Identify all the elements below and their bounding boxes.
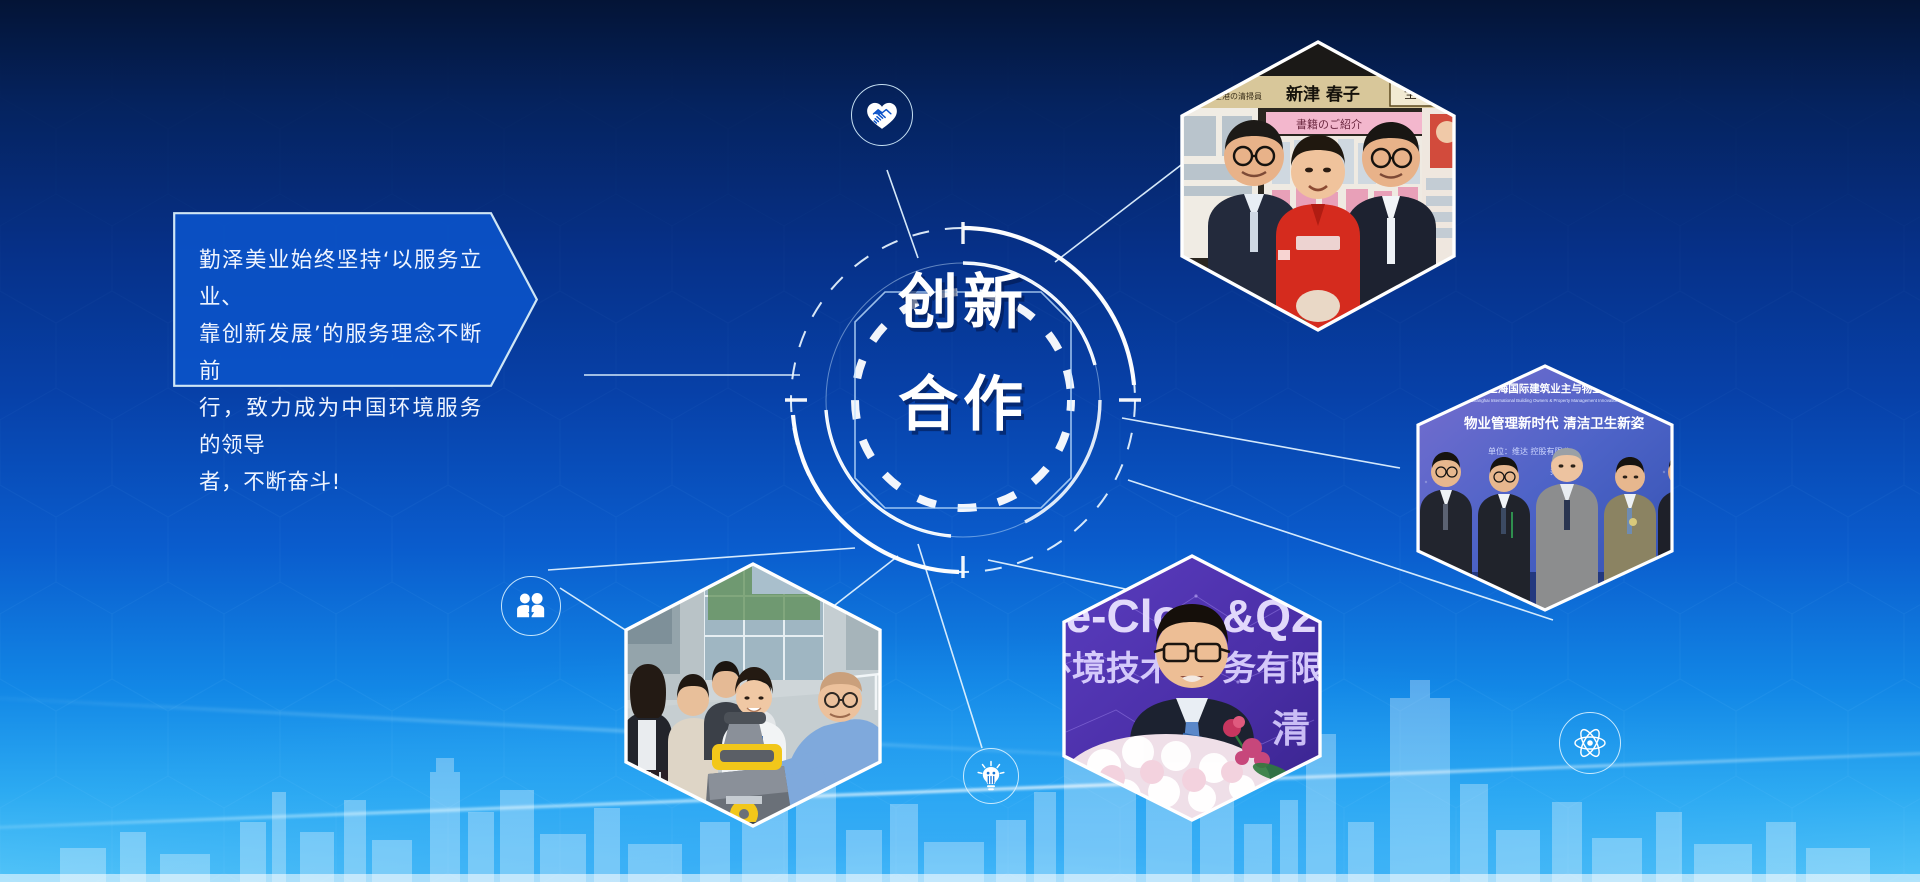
- photo-equipment-demo[interactable]: [608, 560, 898, 830]
- mission-line-2: 靠创新发展’的服务理念不断前: [199, 316, 482, 390]
- badge-people[interactable]: [501, 576, 561, 636]
- svg-text:物业管理新时代 清洁卫生新姿: 物业管理新时代 清洁卫生新姿: [1464, 415, 1645, 432]
- mission-line-1: 勤泽美业始终坚持‘以服务立业、: [199, 242, 482, 316]
- photo-keynote-speaker-art: ce-Clo &Q2 环境技术 务有限 清 服务业联盟系列活: [1046, 552, 1338, 824]
- svg-text:清: 清: [1272, 707, 1310, 751]
- city-skyline-silhouette: [0, 672, 1920, 882]
- core-rings: [763, 200, 1163, 600]
- badge-handshake-heart[interactable]: [851, 84, 913, 146]
- photo-conference-group-art: 2019上海国际建筑业主与物业管理产业创新发 2019 Shanghai Int…: [1400, 362, 1690, 614]
- svg-text:書籍のご紹介: 書籍のご紹介: [1296, 117, 1362, 131]
- svg-text:新津 春子: 新津 春子: [1286, 84, 1360, 105]
- svg-text:务有限: 务有限: [1222, 649, 1324, 689]
- core-emblem: 创新 合作: [763, 200, 1163, 600]
- photo-equipment-demo-art: [608, 560, 898, 830]
- svg-text:&Q2: &Q2: [1222, 590, 1317, 642]
- photo-keynote-speaker[interactable]: ce-Clo &Q2 环境技术 务有限 清 服务业联盟系列活: [1046, 552, 1338, 824]
- handshake-heart-icon: [865, 98, 899, 132]
- photo-award-bookstore[interactable]: 全仕事 新津 春子 羽田空港の清掃員 書籍のご紹介: [1168, 36, 1468, 336]
- svg-text:羽田空港の清掃員: 羽田空港の清掃員: [1198, 91, 1262, 101]
- lightbulb-icon: [976, 760, 1006, 792]
- mission-statement-callout: 勤泽美业始终坚持‘以服务立业、 靠创新发展’的服务理念不断前 行，致力成为中国环…: [173, 212, 538, 387]
- photo-conference-group[interactable]: 2019上海国际建筑业主与物业管理产业创新发 2019 Shanghai Int…: [1400, 362, 1690, 614]
- people-icon: [515, 591, 547, 621]
- atom-icon: [1573, 726, 1607, 760]
- mission-line-3: 行，致力成为中国环境服务的领导: [199, 390, 482, 464]
- svg-text:2019上海国际建筑业主与物业管理产业创新发: 2019上海国际建筑业主与物业管理产业创新发: [1458, 382, 1677, 395]
- mission-statement-text: 勤泽美业始终坚持‘以服务立业、 靠创新发展’的服务理念不断前 行，致力成为中国环…: [199, 242, 482, 501]
- badge-atom[interactable]: [1559, 712, 1621, 774]
- hero-banner: 勤泽美业始终坚持‘以服务立业、 靠创新发展’的服务理念不断前 行，致力成为中国环…: [0, 0, 1920, 882]
- badge-lightbulb[interactable]: [963, 748, 1019, 804]
- mission-line-4: 者，不断奋斗!: [199, 464, 482, 501]
- light-streak-primary: [0, 745, 1920, 836]
- photo-award-bookstore-art: 全仕事 新津 春子 羽田空港の清掃員 書籍のご紹介: [1168, 36, 1468, 336]
